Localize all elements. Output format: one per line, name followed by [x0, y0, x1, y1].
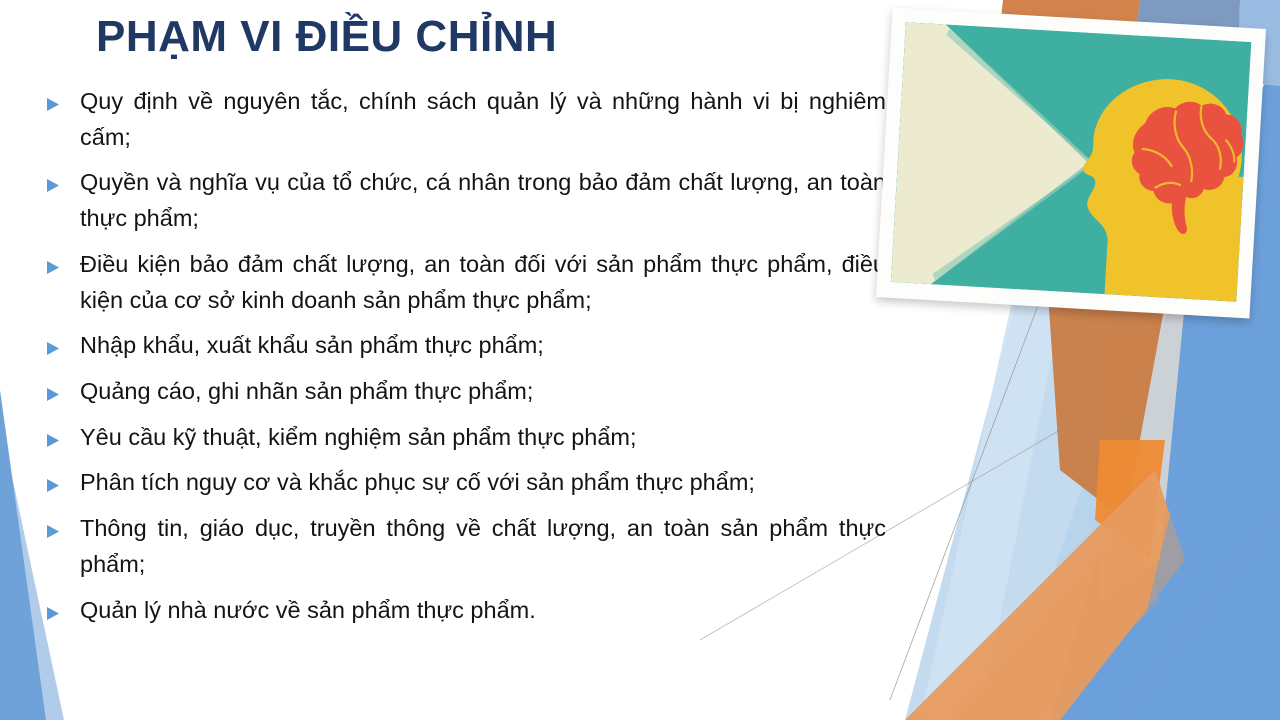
list-item-label: Điều kiện bảo đảm chất lượng, an toàn đố…: [80, 247, 886, 318]
triangle-bullet-icon: [46, 478, 60, 493]
head-with-brain-illustration: [891, 22, 1251, 301]
triangle-bullet-icon: [46, 260, 60, 275]
page-title: PHẠM VI ĐIỀU CHỈNH: [96, 14, 557, 60]
triangle-bullet-icon: [46, 178, 60, 193]
list-item: Điều kiện bảo đảm chất lượng, an toàn đố…: [46, 247, 886, 318]
triangle-bullet-icon: [46, 524, 60, 539]
list-item-label: Thông tin, giáo dục, truyền thông về chấ…: [80, 511, 886, 582]
list-item: Quy định về nguyên tắc, chính sách quản …: [46, 84, 886, 155]
list-item: Yêu cầu kỹ thuật, kiểm nghiệm sản phẩm t…: [46, 420, 886, 456]
list-item: Quảng cáo, ghi nhãn sản phẩm thực phẩm;: [46, 374, 886, 410]
picture-frame: [876, 7, 1266, 318]
triangle-bullet-icon: [46, 97, 60, 112]
list-item-label: Quyền và nghĩa vụ của tổ chức, cá nhân t…: [80, 165, 886, 236]
list-item-label: Quảng cáo, ghi nhãn sản phẩm thực phẩm;: [80, 374, 886, 410]
list-item: Quản lý nhà nước về sản phẩm thực phẩm.: [46, 593, 886, 629]
list-item: Nhập khẩu, xuất khẩu sản phẩm thực phẩm;: [46, 328, 886, 364]
list-item-label: Quy định về nguyên tắc, chính sách quản …: [80, 84, 886, 155]
triangle-bullet-icon: [46, 341, 60, 356]
list-item-label: Quản lý nhà nước về sản phẩm thực phẩm.: [80, 593, 886, 629]
slide-canvas: PHẠM VI ĐIỀU CHỈNH Quy định về nguyên tắ…: [0, 0, 1280, 720]
list-item: Quyền và nghĩa vụ của tổ chức, cá nhân t…: [46, 165, 886, 236]
triangle-bullet-icon: [46, 606, 60, 621]
bullet-list: Quy định về nguyên tắc, chính sách quản …: [46, 84, 886, 638]
list-item-label: Yêu cầu kỹ thuật, kiểm nghiệm sản phẩm t…: [80, 420, 886, 456]
list-item: Phân tích nguy cơ và khắc phục sự cố với…: [46, 465, 886, 501]
list-item-label: Nhập khẩu, xuất khẩu sản phẩm thực phẩm;: [80, 328, 886, 364]
list-item: Thông tin, giáo dục, truyền thông về chấ…: [46, 511, 886, 582]
triangle-bullet-icon: [46, 387, 60, 402]
list-item-label: Phân tích nguy cơ và khắc phục sự cố với…: [80, 465, 886, 501]
triangle-bullet-icon: [46, 433, 60, 448]
